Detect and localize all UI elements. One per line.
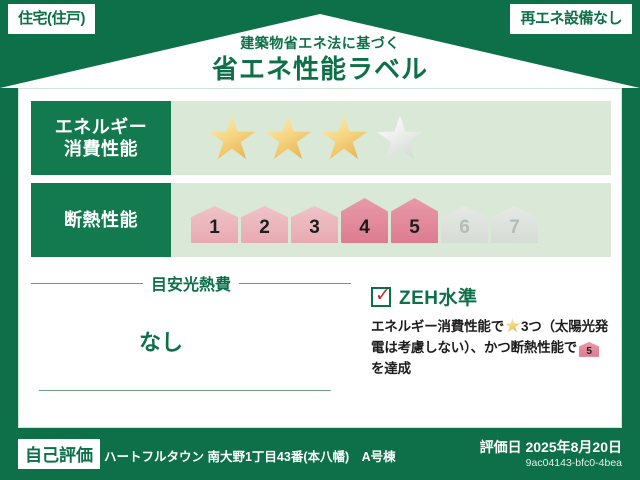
property-address: ハートフルタウン 南大野1丁目43番(本八幡) A号棟 <box>104 446 396 465</box>
building-type-tag: 住宅(住戸) <box>8 4 95 34</box>
self-evaluation-badge: 自己評価 <box>18 439 100 469</box>
house-icon-level-5: 5 <box>391 198 438 243</box>
zeh-title: ZEH水準 <box>399 283 478 310</box>
renewable-equipment-tag: 再エネ設備なし <box>510 4 632 34</box>
house-icon-level-3: 3 <box>291 206 338 243</box>
rule-left <box>31 283 143 284</box>
label-header: 住宅(住戸) 再エネ設備なし 建築物省エネ法に基づく 省エネ性能ラベル <box>0 0 640 88</box>
utility-cost-header: 目安光熱費 <box>31 271 351 295</box>
star-icon-3 <box>321 115 367 161</box>
insulation-level-scale: 1 2 3 4 5 6 7 <box>171 183 611 257</box>
zeh-description: エネルギー消費性能で3つ（太陽光発電は考慮しない）、かつ断熱性能で5を達成 <box>371 317 611 380</box>
lower-section: 目安光熱費 なし ✓ ZEH水準 エネルギー消費性能で3つ（太陽光発電は考慮しな… <box>31 265 611 417</box>
house-icon-level-6: 6 <box>441 206 488 243</box>
evaluation-date: 評価日 2025年8月20日 <box>480 437 622 457</box>
label-body-card: エネルギー 消費性能 断熱性能 1 2 3 4 5 6 7 <box>18 88 622 428</box>
energy-star-rating <box>171 101 611 175</box>
zeh-desc-part1: エネルギー消費性能で <box>371 319 504 334</box>
utility-cost-value: なし <box>31 325 351 357</box>
energy-performance-key: エネルギー 消費性能 <box>31 101 171 175</box>
insulation-performance-row: 断熱性能 1 2 3 4 5 6 7 <box>31 183 611 257</box>
label-footer: 自己評価 ハートフルタウン 南大野1丁目43番(本八幡) A号棟 評価日 202… <box>0 428 640 480</box>
energy-key-line2: 消費性能 <box>64 139 138 159</box>
energy-performance-row: エネルギー 消費性能 <box>31 101 611 175</box>
zeh-header: ✓ ZEH水準 <box>371 283 611 310</box>
house-icon-level-4: 4 <box>341 198 388 243</box>
house-icon-level-2: 2 <box>241 206 288 243</box>
energy-key-line1: エネルギー <box>55 117 148 137</box>
energy-performance-label: 住宅(住戸) 再エネ設備なし 建築物省エネ法に基づく 省エネ性能ラベル エネルギ… <box>0 0 640 480</box>
zeh-checkbox[interactable]: ✓ <box>371 287 391 307</box>
star-icon-2 <box>265 115 311 161</box>
star-icon-1 <box>209 115 255 161</box>
utility-cost-section: 目安光熱費 なし <box>31 265 351 417</box>
utility-cost-title: 目安光熱費 <box>151 271 231 295</box>
check-icon: ✓ <box>375 286 391 306</box>
star-icon-inline <box>505 318 520 333</box>
star-icon-4 <box>377 115 423 161</box>
zeh-desc-part2: は考慮しない）、かつ断熱性能で <box>384 340 577 355</box>
insulation-performance-key: 断熱性能 <box>31 183 171 257</box>
lower-divider-rule <box>39 390 331 391</box>
document-id: 9ac04143-bfc0-4bea <box>526 457 622 469</box>
house-icon-level-7: 7 <box>491 206 538 243</box>
zeh-desc-part3: を達成 <box>371 361 411 376</box>
zeh-section: ✓ ZEH水準 エネルギー消費性能で3つ（太陽光発電は考慮しない）、かつ断熱性能… <box>351 265 611 417</box>
house-icon-inline: 5 <box>579 342 599 357</box>
rule-right <box>239 283 351 284</box>
house-icon-level-1: 1 <box>191 206 238 243</box>
